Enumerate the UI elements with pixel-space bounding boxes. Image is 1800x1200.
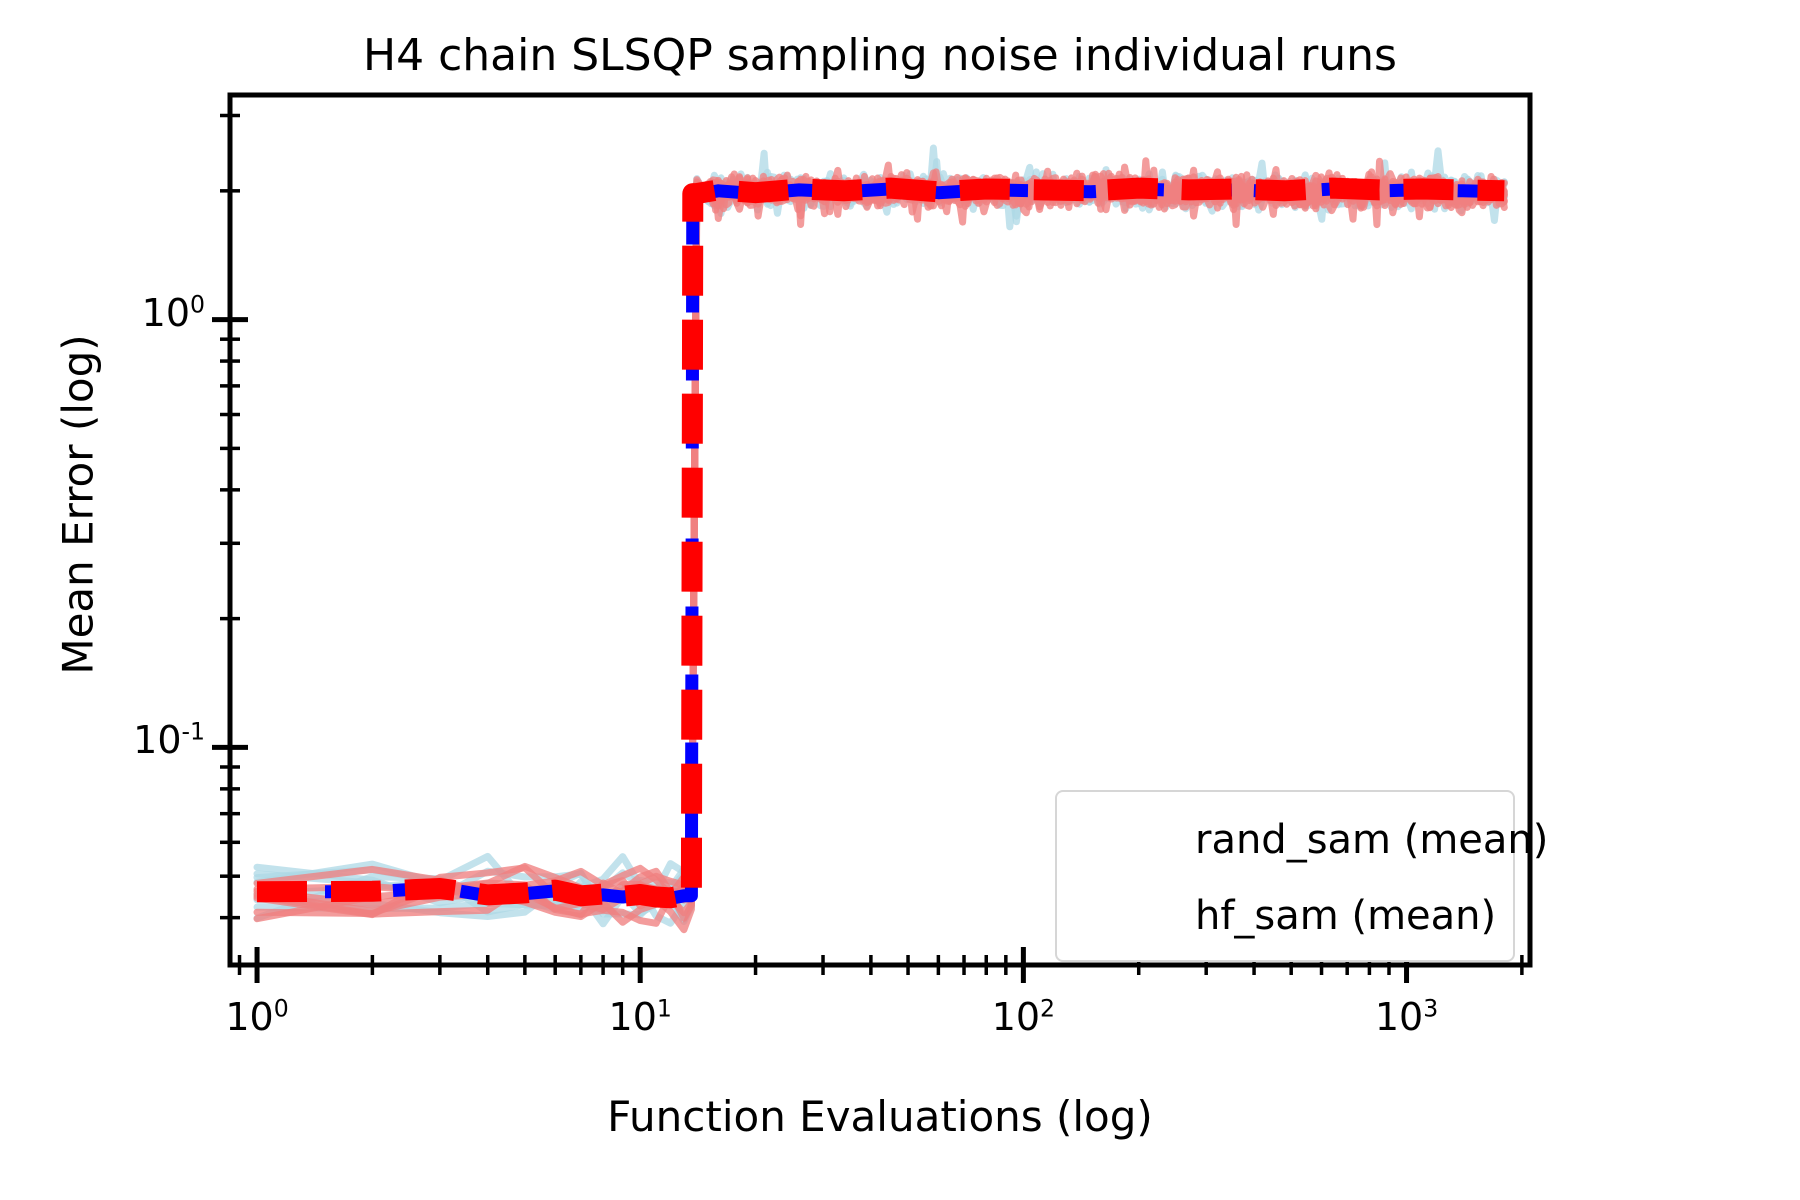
x-tick-label: 102 [933,995,1113,1039]
y-tick-label: 100 [0,291,205,335]
x-tick-label: 100 [167,995,347,1039]
x-tick-label: 101 [550,995,730,1039]
x-axis-label: Function Evaluations (log) [230,1092,1530,1141]
legend-label-hf-sam: hf_sam (mean) [1195,893,1496,939]
legend-entry-rand-sam[interactable]: rand_sam (mean) [1073,802,1497,878]
chart-title-wrapper: H4 chain SLSQP sampling noise individual… [230,30,1530,81]
x-tick-label: 103 [1317,995,1497,1039]
legend-label-rand-sam: rand_sam (mean) [1195,817,1548,863]
figure-canvas: H4 chain SLSQP sampling noise individual… [0,0,1800,1200]
page-title: H4 chain SLSQP sampling noise individual… [363,30,1397,81]
legend-entry-hf-sam[interactable]: hf_sam (mean) [1073,878,1497,954]
y-tick-label: 10-1 [0,718,205,762]
legend-box[interactable]: rand_sam (mean) hf_sam (mean) [1055,790,1515,962]
